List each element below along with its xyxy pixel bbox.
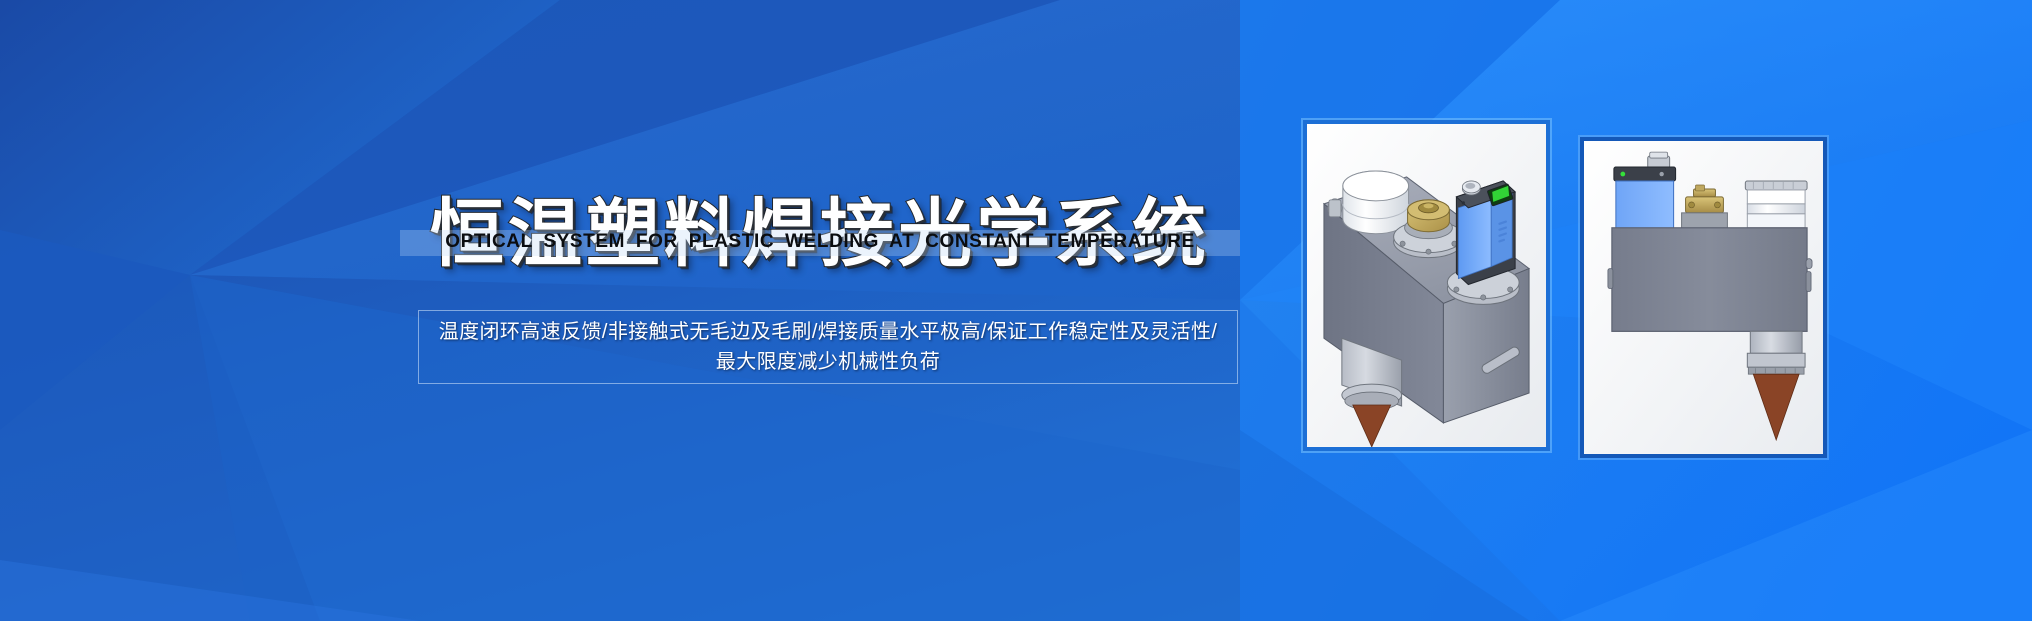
headline-block: 恒温塑料焊接光学系统 OPTICAL SYSTEM FOR PLASTIC WE… <box>400 186 1240 306</box>
subtitle-line-2: 最大限度减少机械性负荷 <box>716 351 940 373</box>
product-card-front[interactable] <box>1580 137 1827 458</box>
side-connector <box>1328 199 1342 217</box>
subtitle-line-1: 温度闭环高速反馈/非接触式无毛边及毛刷/焊接质量水平极高/保证工作稳定性及灵活性… <box>439 321 1218 343</box>
promotional-banner: 恒温塑料焊接光学系统 OPTICAL SYSTEM FOR PLASTIC WE… <box>0 0 2032 621</box>
white-cylinder-module <box>1745 181 1807 228</box>
subtitle-text: 温度闭环高速反馈/非接触式无毛边及毛刷/焊接质量水平极高/保证工作稳定性及灵活性… <box>433 317 1223 377</box>
product-illustration-isometric <box>1307 124 1546 447</box>
product-card-isometric[interactable] <box>1303 120 1550 451</box>
status-led <box>1620 172 1625 177</box>
subtitle-box: 温度闭环高速反馈/非接触式无毛边及毛刷/焊接质量水平极高/保证工作稳定性及灵活性… <box>418 310 1238 384</box>
product-illustration-front <box>1584 141 1823 454</box>
page-title-english: OPTICAL SYSTEM FOR PLASTIC WELDING AT CO… <box>400 227 1240 257</box>
camera-module <box>1447 181 1519 304</box>
